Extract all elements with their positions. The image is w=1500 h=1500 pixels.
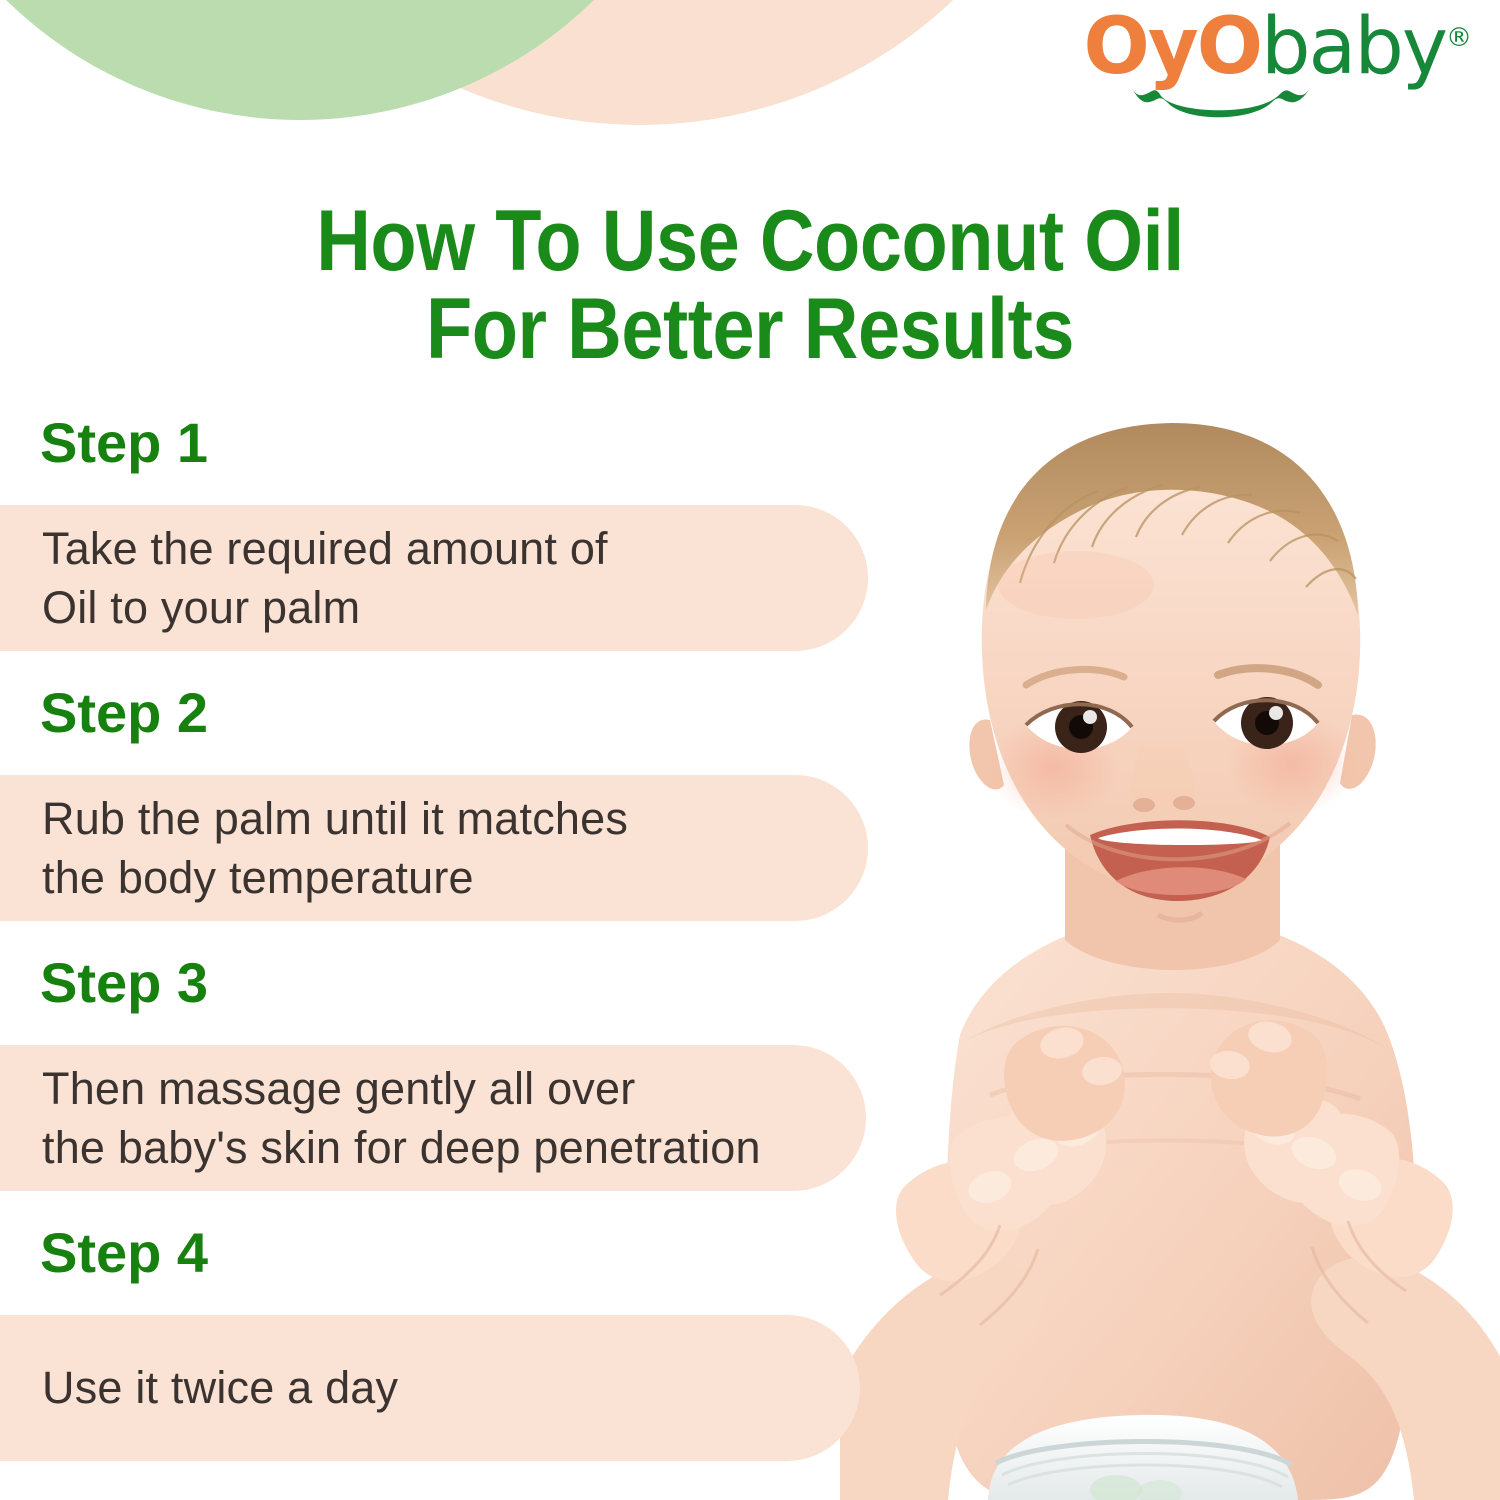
step-box-1: Take the required amount of Oil to your … xyxy=(0,505,868,651)
brand-logo-text: OyObaby® xyxy=(1070,8,1470,86)
page-title-line-2: For Better Results xyxy=(90,286,1410,374)
registered-trademark-icon: ® xyxy=(1446,23,1470,53)
step-text-1: Take the required amount of Oil to your … xyxy=(42,519,868,638)
step-text-3: Then massage gently all over the baby's … xyxy=(42,1059,866,1178)
step-box-4: Use it twice a day xyxy=(0,1315,860,1461)
step-text-2: Rub the palm until it matches the body t… xyxy=(42,789,868,908)
page-title: How To Use Coconut Oil For Better Result… xyxy=(90,198,1410,373)
smile-icon xyxy=(1128,82,1314,118)
decor-circle-peach xyxy=(185,0,1095,125)
step-label-3: Step 3 xyxy=(40,955,208,1011)
decor-circle-green xyxy=(0,0,720,120)
step-label-2: Step 2 xyxy=(40,685,208,741)
page-title-line-1: How To Use Coconut Oil xyxy=(90,198,1410,286)
step-box-2: Rub the palm until it matches the body t… xyxy=(0,775,868,921)
step-label-4: Step 4 xyxy=(40,1225,208,1281)
brand-logo: OyObaby® xyxy=(1070,8,1470,128)
brand-logo-baby: baby xyxy=(1261,2,1446,92)
baby-photo xyxy=(840,395,1500,1500)
brand-logo-oyo: OyO xyxy=(1084,2,1261,92)
step-text-4: Use it twice a day xyxy=(42,1358,860,1417)
step-label-1: Step 1 xyxy=(40,415,208,471)
step-box-3: Then massage gently all over the baby's … xyxy=(0,1045,866,1191)
